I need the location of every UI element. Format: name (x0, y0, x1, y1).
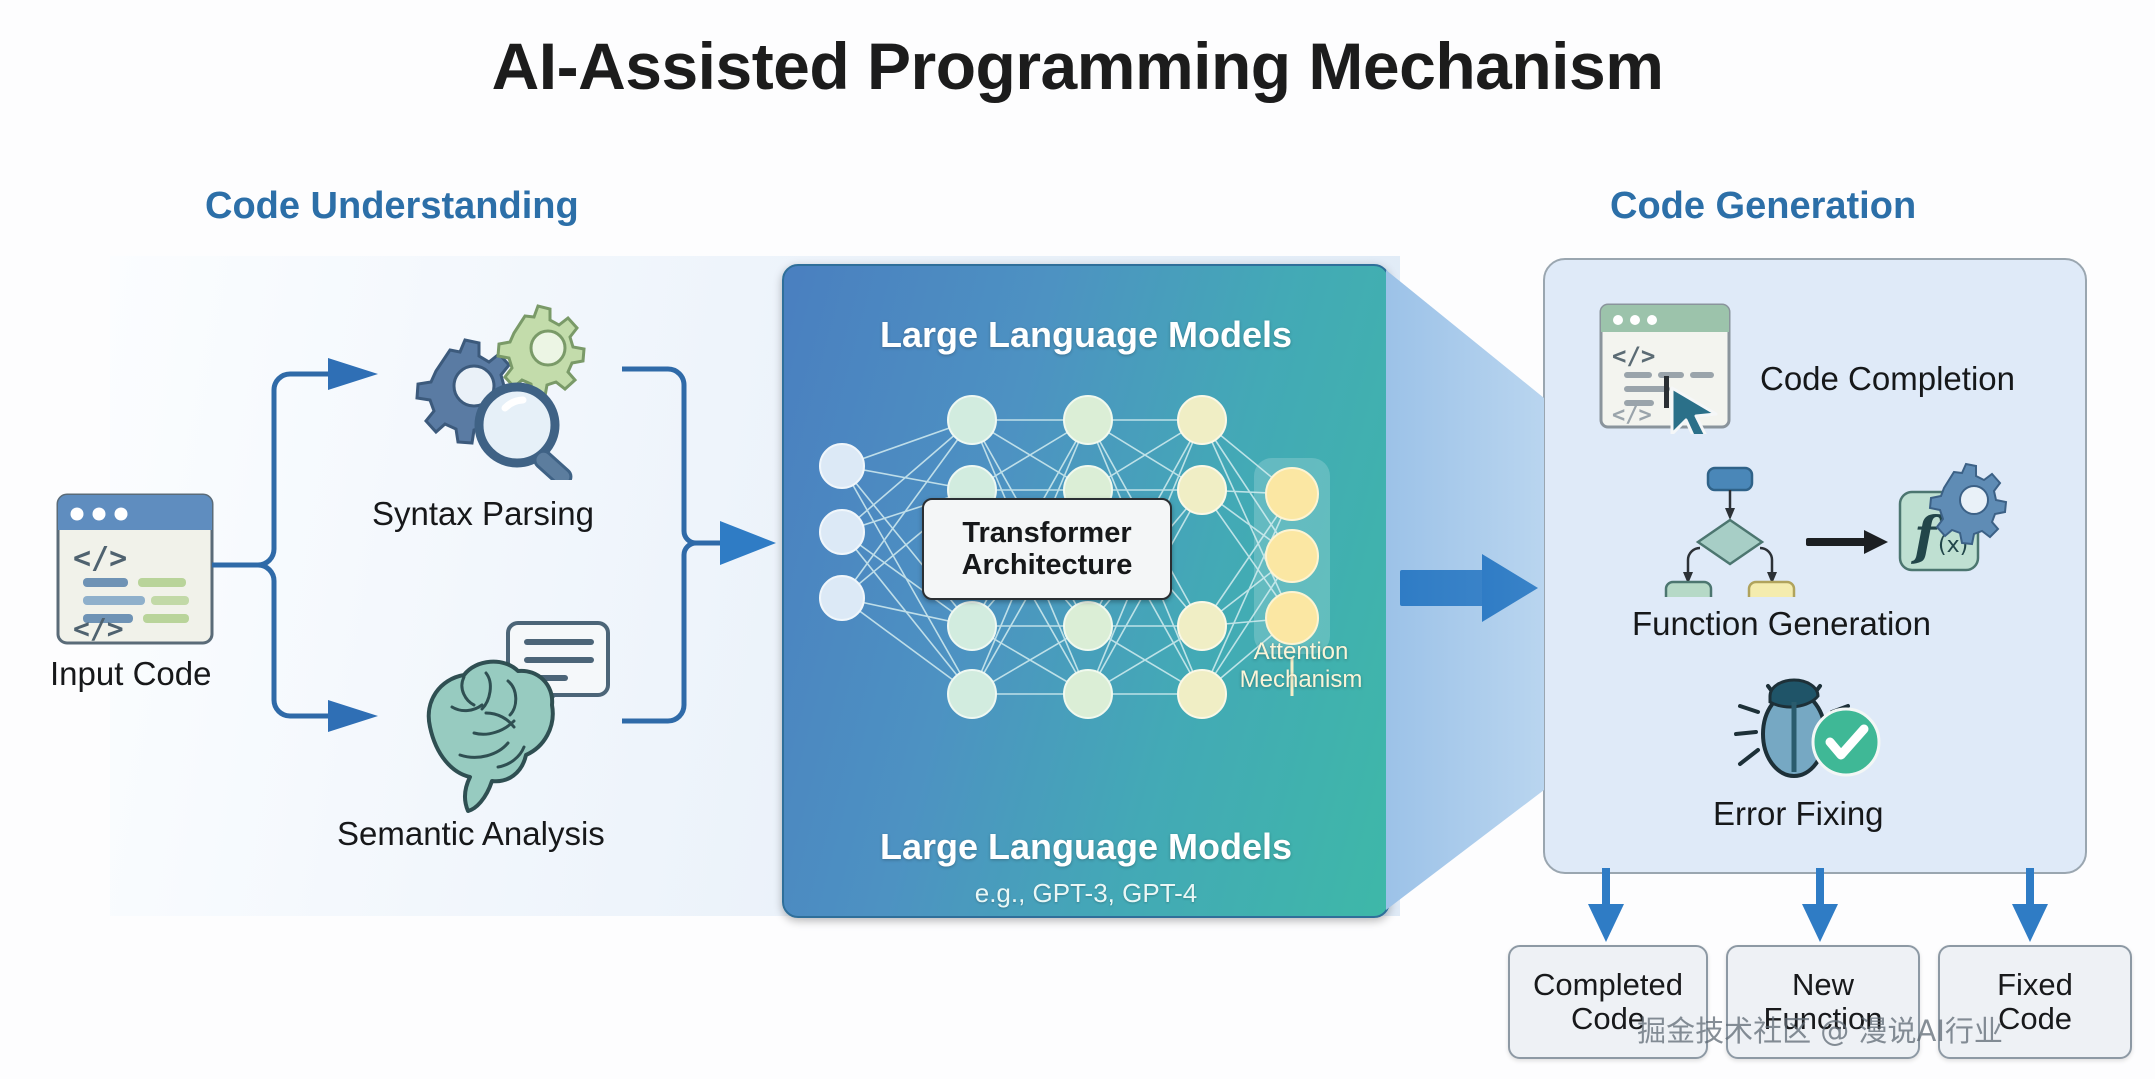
code-completion-label: Code Completion (1760, 360, 2015, 398)
output-completed-line-1: Completed (1533, 968, 1683, 1002)
semantic-analysis-label: Semantic Analysis (337, 815, 605, 853)
input-code-icon: </> </> (55, 492, 215, 647)
generation-output-arrows (1560, 868, 2080, 948)
page-title: AI-Assisted Programming Mechanism (0, 28, 2155, 104)
llm-title-bottom: Large Language Models (784, 826, 1388, 868)
section-heading-code-generation: Code Generation (1610, 185, 1916, 228)
transformer-architecture-box: Transformer Architecture (922, 498, 1172, 600)
llm-title-top: Large Language Models (784, 314, 1388, 356)
svg-text:</>: </> (1612, 342, 1655, 370)
transformer-line-2: Architecture (962, 549, 1133, 581)
function-generation-label: Function Generation (1632, 605, 1931, 643)
attention-mechanism-label: Attention Mechanism (1216, 638, 1386, 694)
llm-panel: Large Language Models (782, 264, 1390, 918)
svg-text:</>: </> (1612, 403, 1652, 428)
output-newfunction-line-1: New (1764, 968, 1883, 1002)
flowchart-function-icon: f (x) (1638, 462, 2078, 597)
code-window-cursor-icon: </> </> (1598, 302, 1748, 434)
transformer-line-1: Transformer (962, 517, 1131, 549)
input-split-connector (210, 330, 570, 740)
llm-to-generation-funnel (1386, 266, 1546, 914)
output-fixed-line-1: Fixed (1997, 968, 2073, 1002)
svg-text:</>: </> (73, 541, 127, 576)
section-heading-code-understanding: Code Understanding (205, 185, 579, 228)
llm-subtitle: e.g., GPT-3, GPT-4 (784, 878, 1388, 909)
merge-connector-to-llm (620, 355, 790, 735)
error-fixing-label: Error Fixing (1713, 795, 1884, 833)
attention-line-1: Attention (1216, 638, 1386, 666)
input-code-label: Input Code (50, 655, 211, 693)
attention-line-2: Mechanism (1216, 666, 1386, 694)
svg-text:</>: </> (73, 612, 124, 645)
watermark-text: 掘金技术社区 @ 漫说AI行业 (1510, 1008, 2130, 1050)
bug-check-icon (1728, 672, 1908, 784)
